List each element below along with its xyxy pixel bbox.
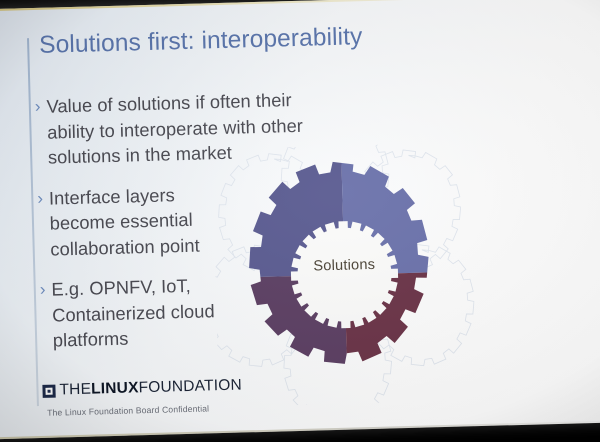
logo-text-linux: LINUX [91,379,139,398]
chevron-right-icon: › [35,94,47,119]
gear-diagram: Solutions [212,142,477,407]
logo-text-the: THE [59,381,91,400]
linux-foundation-mark-icon [42,384,55,397]
bullet-text: E.g. OPNFV, IoT, Containerized cloud pla… [51,272,233,353]
logo-text-foundation: FOUNDATION [138,377,242,398]
slide-title: Solutions first: interoperability [39,23,363,60]
confidentiality-notice: The Linux Foundation Board Confidential [47,403,209,417]
linux-foundation-logo: THE LINUX FOUNDATION [42,377,242,400]
slide-photo: Solutions first: interoperability › Valu… [0,0,600,442]
slide-surface: Solutions first: interoperability › Valu… [0,0,600,439]
projected-slide: Solutions first: interoperability › Valu… [0,0,600,439]
bullet-text: Interface layers become essential collab… [49,180,231,261]
chevron-right-icon: › [37,185,49,210]
chevron-right-icon: › [39,277,51,302]
